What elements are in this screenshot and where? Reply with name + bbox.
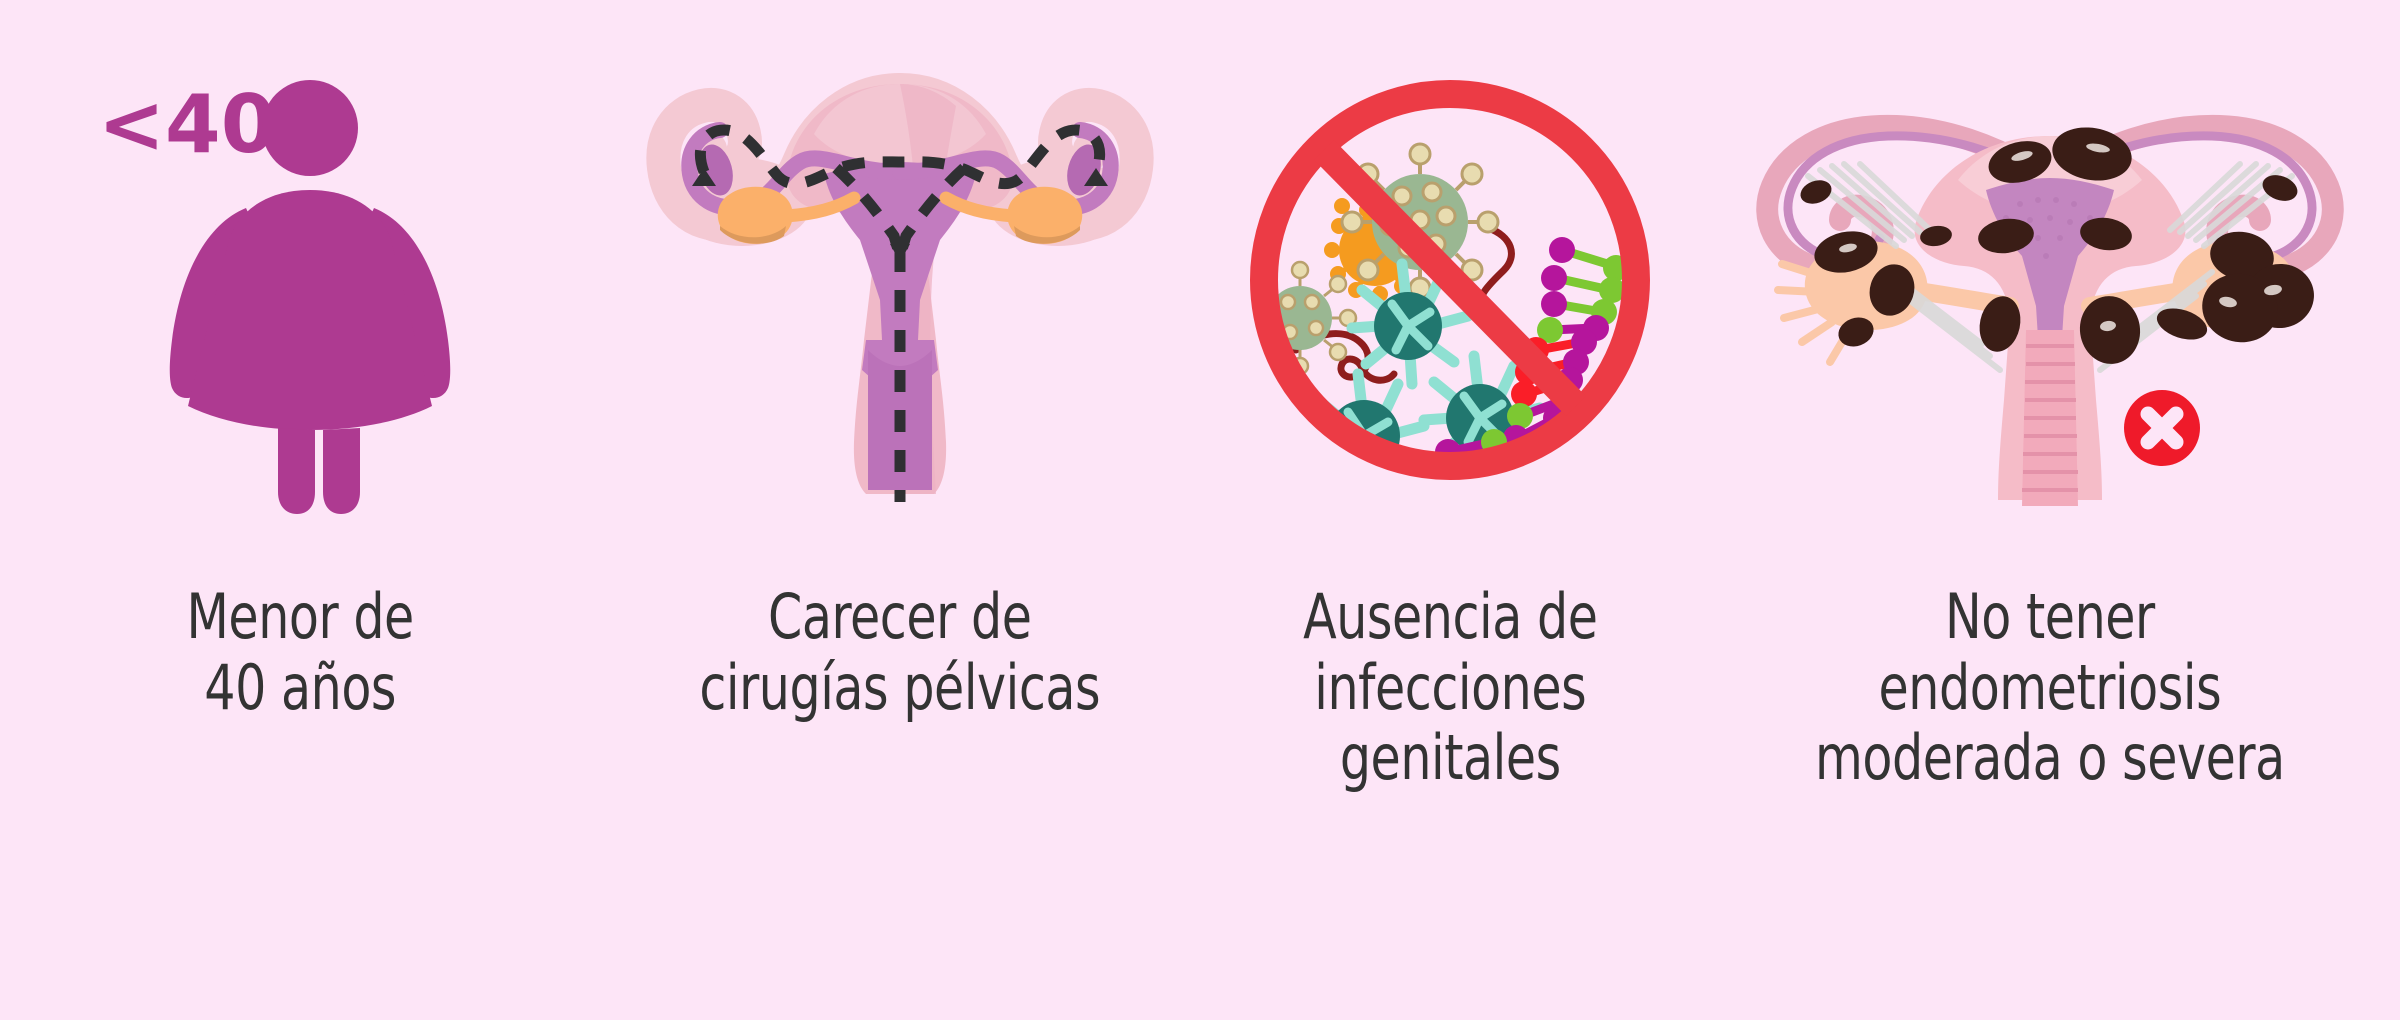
criterion-label-no-endometriosis: No tener endometriosis moderada o severa: [1815, 582, 2285, 794]
criterion-no-pelvic-surgery: Carecer de cirugías pélvicas: [600, 0, 1200, 1020]
icon-area-no-infections: [1200, 0, 1700, 560]
criteria-infographic: <40 Menor de 40 años: [0, 0, 2400, 1020]
criterion-no-genital-infections: Ausencia de infecciones genitales: [1200, 0, 1700, 1020]
pathogens-group: [1244, 144, 1629, 555]
icon-area-uterus: [600, 0, 1200, 560]
endo-cervix-canal: [2022, 330, 2078, 506]
icon-area-age: <40: [0, 0, 600, 560]
no-infections-prohibition-icon: [1220, 50, 1680, 510]
uterus-endometriosis-icon: [1720, 40, 2380, 520]
figure-head: [262, 80, 358, 176]
figure-left-leg: [278, 428, 315, 514]
criterion-label-age: Menor de 40 años: [186, 582, 413, 723]
figure-right-leg: [323, 428, 360, 514]
criterion-label-no-pelvic-surgery: Carecer de cirugías pélvicas: [700, 582, 1101, 723]
criterion-no-endometriosis: No tener endometriosis moderada o severa: [1700, 0, 2400, 1020]
red-x-badge-icon: [2124, 390, 2200, 466]
uterus-anatomy-icon: [620, 50, 1180, 510]
age-threshold-label: <40: [98, 78, 276, 171]
virus-sage-large-spikes: [1342, 144, 1498, 298]
virus-sage-large: [1342, 144, 1498, 298]
criterion-label-no-genital-infections: Ausencia de infecciones genitales: [1303, 582, 1597, 794]
woman-under-40-icon: <40: [20, 40, 580, 520]
criterion-age: <40 Menor de 40 años: [0, 0, 600, 1020]
icon-area-endometriosis: [1700, 0, 2400, 560]
